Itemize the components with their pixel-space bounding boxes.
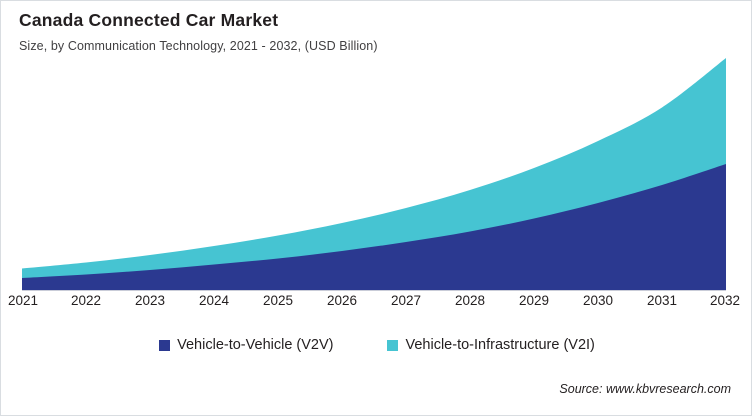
x-tick-2024: 2024 [199, 293, 229, 308]
legend-item-v2i[interactable]: Vehicle-to-Infrastructure (V2I) [387, 337, 594, 353]
legend-swatch-icon [159, 340, 170, 351]
x-tick-2023: 2023 [135, 293, 165, 308]
legend-item-v2v[interactable]: Vehicle-to-Vehicle (V2V) [159, 337, 333, 353]
x-tick-2031: 2031 [647, 293, 677, 308]
x-tick-2022: 2022 [71, 293, 101, 308]
chart-legend: Vehicle-to-Vehicle (V2V)Vehicle-to-Infra… [1, 337, 752, 353]
x-tick-2032: 2032 [710, 293, 740, 308]
x-tick-2030: 2030 [583, 293, 613, 308]
legend-label: Vehicle-to-Infrastructure (V2I) [405, 337, 594, 353]
area-chart-plot [1, 1, 752, 301]
source-attribution: Source: www.kbvresearch.com [559, 382, 731, 396]
x-tick-2027: 2027 [391, 293, 421, 308]
legend-swatch-icon [387, 340, 398, 351]
x-tick-2025: 2025 [263, 293, 293, 308]
x-tick-2021: 2021 [8, 293, 38, 308]
legend-label: Vehicle-to-Vehicle (V2V) [177, 337, 333, 353]
x-tick-2028: 2028 [455, 293, 485, 308]
x-tick-2026: 2026 [327, 293, 357, 308]
x-tick-2029: 2029 [519, 293, 549, 308]
x-axis-tick-labels: 2021202220232024202520262027202820292030… [1, 293, 752, 315]
chart-card: Canada Connected Car Market Size, by Com… [0, 0, 752, 416]
chart-svg [1, 1, 752, 301]
